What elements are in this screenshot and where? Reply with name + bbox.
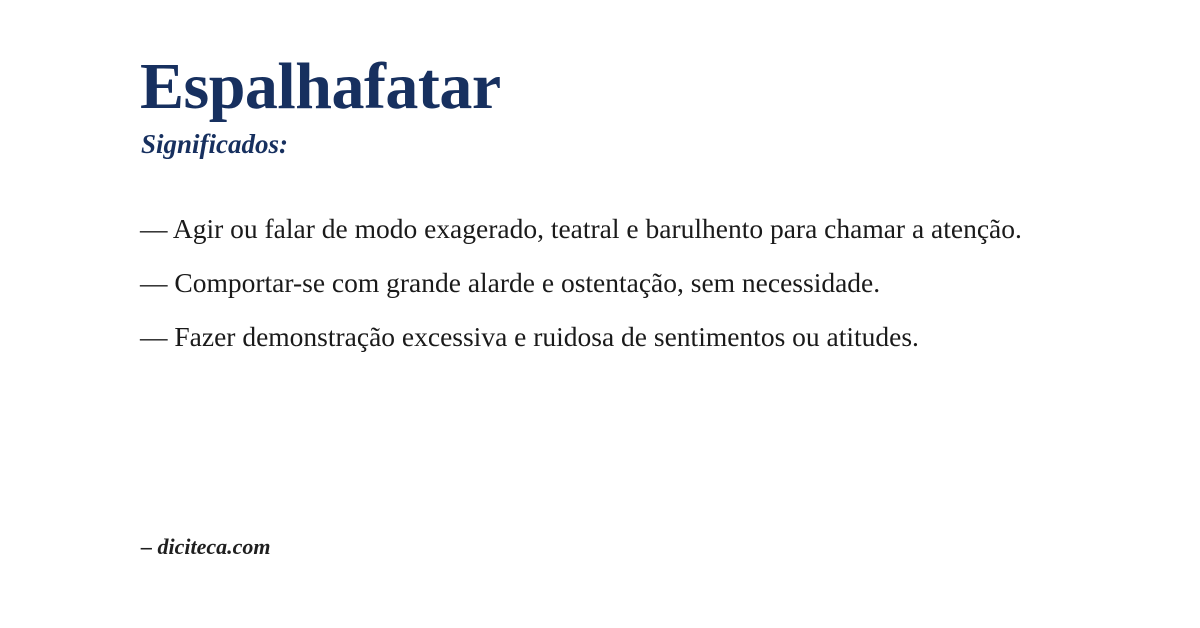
list-item: — Comportar-se com grande alarde e osten…	[140, 265, 1070, 300]
em-dash-marker: —	[140, 213, 173, 244]
dictionary-card: Espalhafatar Significados: — Agir ou fal…	[0, 0, 1200, 628]
em-dash-marker: —	[140, 321, 174, 352]
definition-text: Agir ou falar de modo exagerado, teatral…	[173, 213, 1022, 244]
page-title: Espalhafatar	[140, 52, 501, 122]
list-item: — Fazer demonstração excessiva e ruidosa…	[140, 319, 1070, 354]
en-dash-marker: –	[141, 534, 158, 559]
source-site-name: diciteca.com	[158, 534, 271, 559]
definition-text: Fazer demonstração excessiva e ruidosa d…	[174, 321, 919, 352]
list-item: — Agir ou falar de modo exagerado, teatr…	[140, 211, 1070, 246]
card-content: Espalhafatar Significados: — Agir ou fal…	[140, 0, 1100, 628]
em-dash-marker: —	[140, 267, 174, 298]
definitions-list: — Agir ou falar de modo exagerado, teatr…	[140, 211, 1070, 354]
definition-text: Comportar-se com grande alarde e ostenta…	[174, 267, 880, 298]
meanings-label: Significados:	[141, 129, 288, 159]
source-attribution: – diciteca.com	[141, 534, 271, 560]
